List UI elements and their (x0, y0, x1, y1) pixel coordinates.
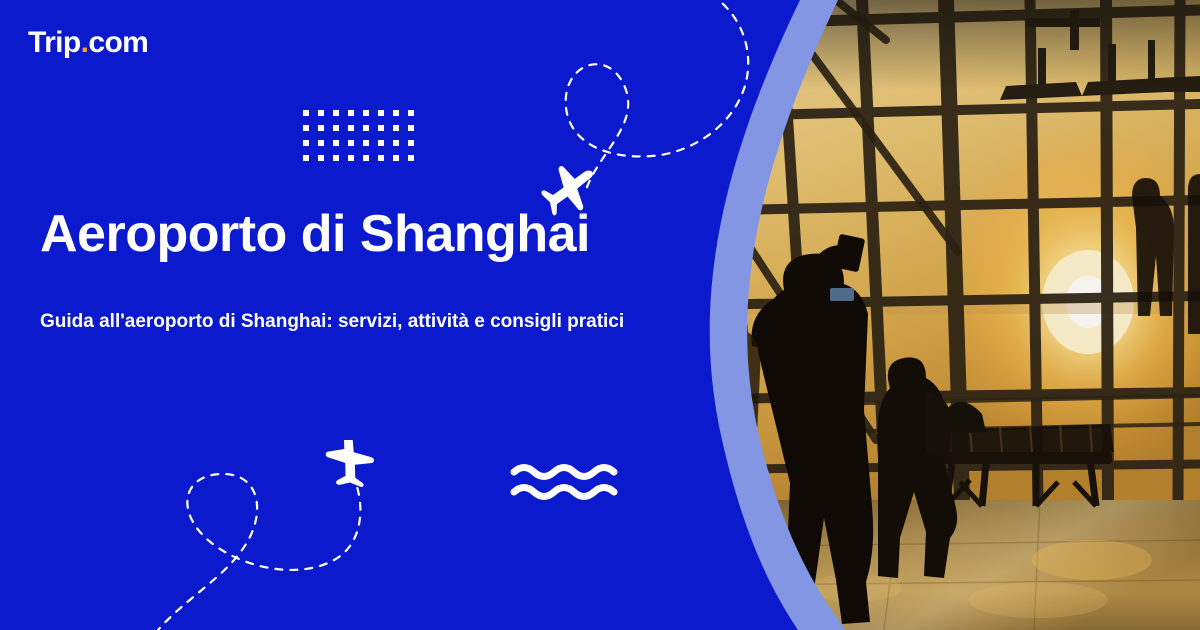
logo-text-tld: com (88, 26, 148, 59)
dot-grid-dot (363, 125, 369, 131)
dot-grid-dot (393, 125, 399, 131)
dot-grid-dot (303, 110, 309, 116)
airport-photo (640, 0, 1200, 630)
dot-grid-dot (348, 140, 354, 146)
dot-grid-dot (393, 110, 399, 116)
dot-grid-dot (348, 155, 354, 161)
wave-line-1 (514, 468, 614, 477)
dot-grid-dot (318, 110, 324, 116)
wave-lines (510, 460, 630, 504)
dot-grid-dot (348, 125, 354, 131)
dot-grid-dot (408, 155, 414, 161)
dot-grid-dot (378, 125, 384, 131)
dot-grid-dot (408, 125, 414, 131)
dot-grid-dot (318, 125, 324, 131)
logo-text-main: Trip (28, 26, 81, 59)
dot-grid-dot (348, 110, 354, 116)
dot-grid-dot (378, 155, 384, 161)
dot-grid-dot (363, 140, 369, 146)
wave-line-2 (514, 488, 614, 497)
dot-grid-dot (303, 155, 309, 161)
dot-grid-dot (303, 140, 309, 146)
dot-grid-dot (408, 110, 414, 116)
brand-logo[interactable]: Trip.com (28, 28, 148, 58)
dot-grid-dot (333, 155, 339, 161)
dot-grid-dot (318, 155, 324, 161)
dot-grid-dot (333, 110, 339, 116)
dot-grid-dot (303, 125, 309, 131)
dot-grid-dot (408, 140, 414, 146)
dot-grid-dot (333, 140, 339, 146)
page-subtitle: Guida all'aeroporto di Shanghai: servizi… (40, 308, 665, 336)
flight-path-bottom (120, 440, 540, 630)
dot-grid-dot (393, 140, 399, 146)
dot-grid-dot (333, 125, 339, 131)
page-title: Aeroporto di Shanghai (40, 205, 680, 264)
dot-grid-dot (378, 140, 384, 146)
dot-grid-dot (393, 155, 399, 161)
dot-grid-dot (378, 110, 384, 116)
airplane-icon (315, 440, 383, 498)
dashed-flight-path (120, 474, 360, 630)
dot-grid-dot (363, 110, 369, 116)
headline-block: Aeroporto di Shanghai Guida all'aeroport… (40, 205, 680, 336)
airport-photo-illustration (640, 0, 1200, 630)
hero-banner: Trip.com Aeroporto di Shanghai Guida all… (0, 0, 1200, 630)
dot-grid-dot (318, 140, 324, 146)
dot-grid-dot (363, 155, 369, 161)
